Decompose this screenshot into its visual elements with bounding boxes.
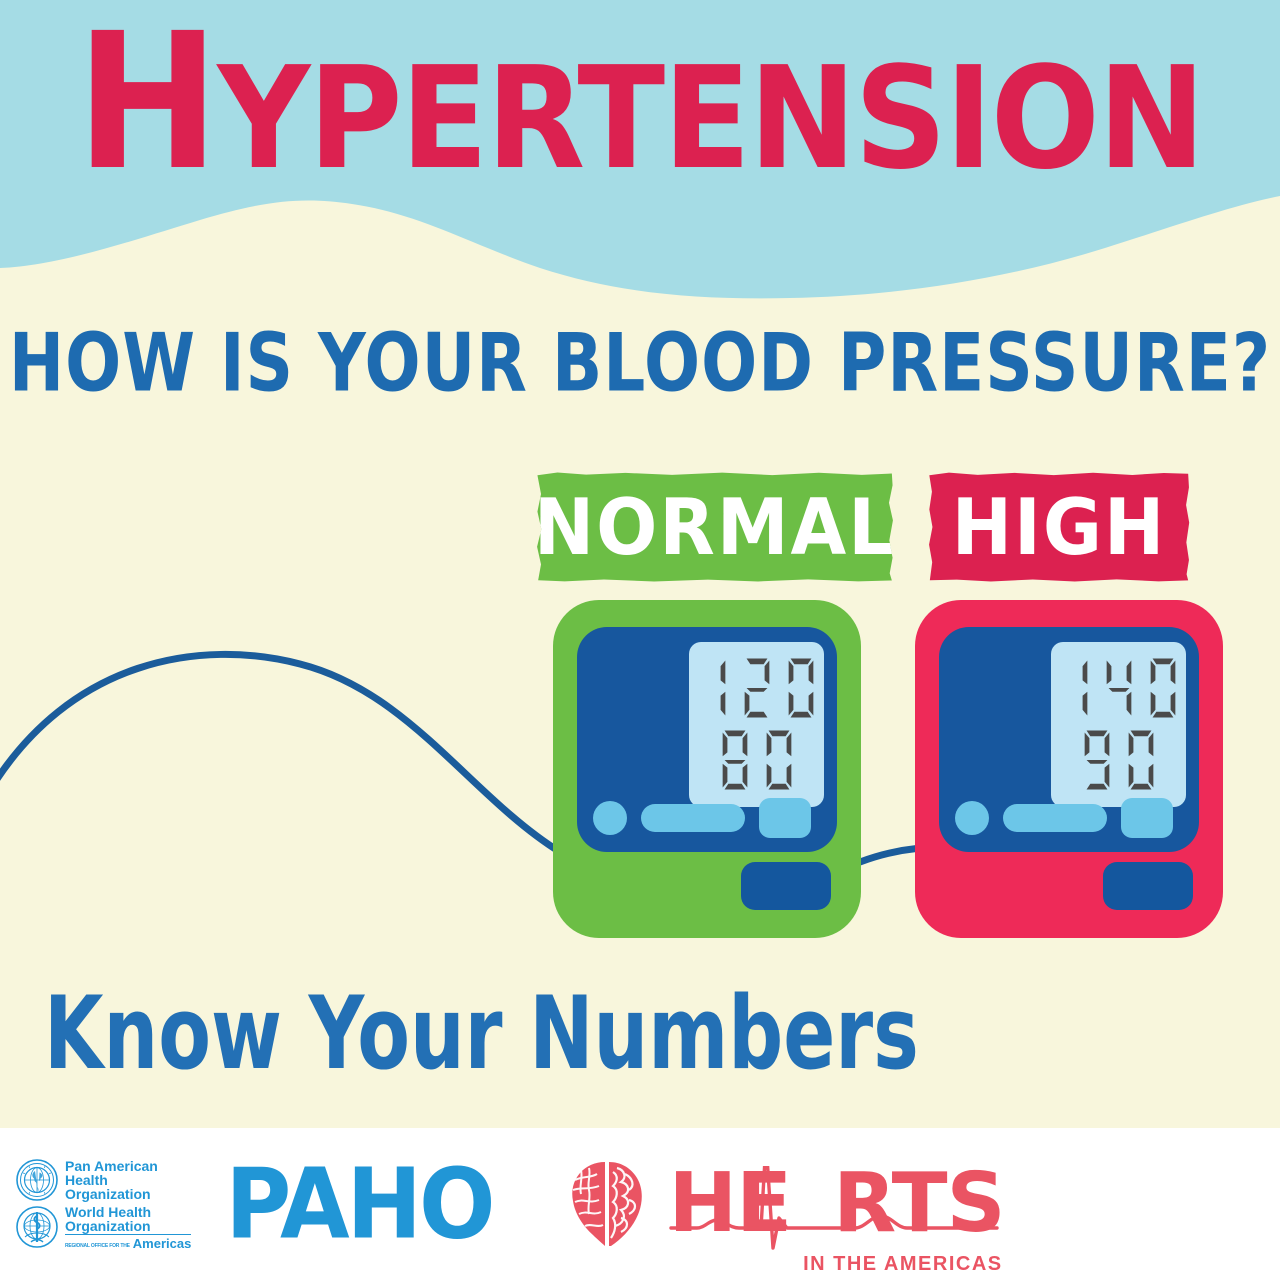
lcd-digit-0 — [1122, 726, 1160, 794]
poster-canvas: HYPERTENSION HOW IS YOUR BLOOD PRESSURE?… — [0, 0, 1280, 1280]
monitor-screen-high — [1051, 642, 1186, 807]
hearts-wordmark: HE RTS — [669, 1166, 1005, 1241]
title-letter: P — [309, 36, 401, 201]
lcd-digit-9 — [1078, 726, 1116, 794]
paho-emblem-label: Pan American Health Organization — [65, 1159, 158, 1201]
lcd-digit-0 — [1144, 654, 1182, 722]
poster-tagline: Know Your Numbers — [44, 975, 919, 1092]
heart-brain-icon — [559, 1156, 655, 1252]
lcd-diastolic-normal — [716, 726, 798, 796]
title-letter: O — [991, 36, 1098, 201]
footer-logo-bar: Pan American Health Organization — [0, 1128, 1280, 1280]
title-letter: Y — [218, 36, 309, 201]
hearts-wordmark-right: RTS — [833, 1166, 1004, 1241]
who-emblem-icon — [16, 1206, 58, 1248]
paho-emblems: Pan American Health Organization — [16, 1159, 191, 1250]
title-letter: N — [749, 36, 855, 201]
title-letter: T — [578, 36, 664, 201]
paho-emblem-row: Pan American Health Organization — [16, 1159, 191, 1201]
paho-wordmark: PAHO — [225, 1160, 492, 1247]
who-region-micro: REGIONAL OFFICE FOR THE — [65, 1243, 130, 1250]
who-region-label: Americas — [133, 1237, 192, 1250]
monitor-screen-normal — [689, 642, 824, 807]
status-badge-normal-label: NORMAL — [534, 482, 896, 573]
title-letter: N — [1098, 36, 1204, 201]
monitor-foot-high — [1103, 862, 1193, 910]
hearts-subtitle: IN THE AMERICAS — [803, 1253, 1003, 1276]
paho-globe-icon — [16, 1159, 58, 1201]
title-letter: R — [487, 36, 578, 201]
lcd-systolic-high — [1056, 654, 1182, 724]
who-emblem-row: World Health Organization REGIONAL OFFIC… — [16, 1205, 191, 1250]
status-badge-high: HIGH — [928, 472, 1190, 582]
who-region-row: REGIONAL OFFICE FOR THE Americas — [65, 1234, 191, 1250]
lcd-digit-1 — [694, 654, 732, 722]
hearts-wordmark-wrapper: HE RTS IN THE AMERICAS — [669, 1166, 1005, 1241]
hearts-logo: HE RTS IN THE AMERICAS — [559, 1156, 1005, 1252]
monitor-buttons-normal — [593, 798, 821, 838]
monitor-panel-high — [939, 627, 1199, 852]
lcd-digit-0 — [760, 726, 798, 794]
status-badge-high-label: HIGH — [952, 482, 1166, 573]
lcd-digit-0 — [782, 654, 820, 722]
blood-pressure-monitor-high — [915, 600, 1223, 938]
paho-logo: Pan American Health Organization — [16, 1159, 493, 1250]
power-button-icon[interactable] — [955, 801, 989, 835]
who-emblem-label: World Health Organization — [65, 1205, 191, 1233]
monitor-foot-normal — [741, 862, 831, 910]
memory-button[interactable] — [759, 798, 811, 838]
title-letter: E — [663, 36, 749, 201]
start-button[interactable] — [1003, 804, 1107, 832]
monitor-panel-normal — [577, 627, 837, 852]
poster-subtitle: HOW IS YOUR BLOOD PRESSURE? — [0, 316, 1280, 410]
title-letter: E — [401, 36, 487, 201]
memory-button[interactable] — [1121, 798, 1173, 838]
lcd-diastolic-high — [1078, 726, 1160, 796]
title-letter: S — [855, 36, 946, 201]
lcd-systolic-normal — [694, 654, 820, 724]
start-button[interactable] — [641, 804, 745, 832]
status-badge-normal: NORMAL — [536, 472, 894, 582]
power-button-icon[interactable] — [593, 801, 627, 835]
lcd-digit-8 — [716, 726, 754, 794]
poster-title-wrapper: HYPERTENSION — [0, 8, 1280, 176]
lcd-digit-2 — [738, 654, 776, 722]
title-letter: I — [945, 36, 991, 201]
who-emblem-labels: World Health Organization REGIONAL OFFIC… — [65, 1205, 191, 1250]
monitor-buttons-high — [955, 798, 1183, 838]
blood-pressure-monitor-normal — [553, 600, 861, 938]
title-letter: H — [76, 0, 217, 212]
hearts-wordmark-left: HE — [669, 1166, 792, 1241]
lcd-digit-4 — [1100, 654, 1138, 722]
poster-title: HYPERTENSION — [76, 8, 1203, 196]
lcd-digit-1 — [1056, 654, 1094, 722]
